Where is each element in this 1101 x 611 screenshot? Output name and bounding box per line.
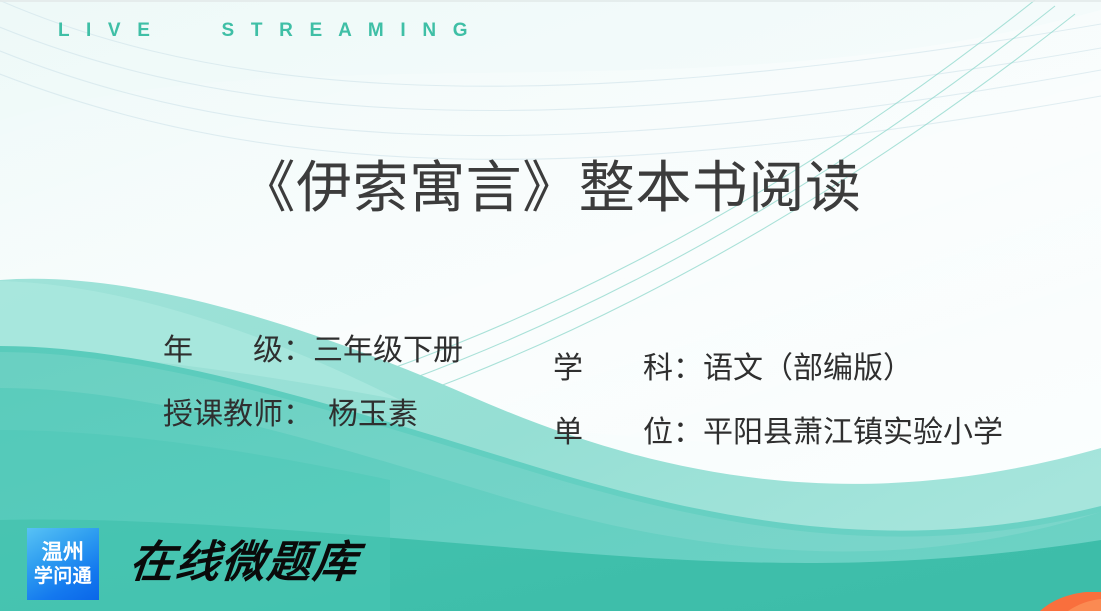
- page-title: 《伊索寓言》整本书阅读: [0, 152, 1101, 224]
- info-teacher: 授课教师： 杨玉素: [163, 394, 418, 436]
- wenzhou-xuewentong-logo: 温州 学问通: [27, 528, 99, 600]
- info-school: 单 位：平阳县萧江镇实验小学: [553, 412, 1003, 454]
- logo-line-name: 学问通: [34, 565, 92, 588]
- live-streaming-banner: L I V E S T R E A M I N G: [58, 17, 1043, 45]
- logo-line-city: 温州: [42, 540, 85, 565]
- lesson-info-block: 年 级：三年级下册 学 科：语文（部编版） 授课教师： 杨玉素 单 位：平阳县萧…: [0, 294, 1101, 422]
- presentation-slide: L I V E S T R E A M I N G 《伊索寓言》整本书阅读 年 …: [0, 0, 1101, 611]
- info-row-teacher-school: 授课教师： 杨玉素 单 位：平阳县萧江镇实验小学: [0, 358, 1101, 422]
- brand-watermark: 温州 学问通 在线微题库: [27, 528, 327, 602]
- info-row-grade-subject: 年 级：三年级下册 学 科：语文（部编版）: [0, 294, 1101, 358]
- brand-script-text: 在线微题库: [127, 534, 362, 592]
